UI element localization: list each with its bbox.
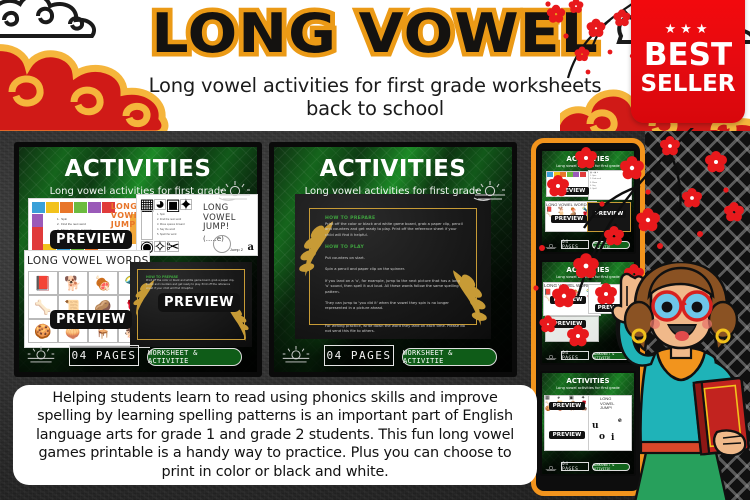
badge-line-2: SELLER bbox=[640, 72, 735, 97]
description-text: Helping students learn to read using pho… bbox=[27, 389, 523, 481]
sunrise-icon-card-2-bottom bbox=[281, 343, 311, 365]
badge-stars: ★★★ bbox=[665, 22, 712, 35]
preview-badge-2: PREVIEW bbox=[50, 310, 132, 329]
mini-sunrise-icon-3 bbox=[545, 463, 557, 472]
instructions-heading-prepare: HOW TO PREPARE bbox=[325, 216, 465, 221]
preview-badge-1: PREVIEW bbox=[50, 230, 132, 249]
spinner-letter: a bbox=[248, 242, 254, 253]
type-pill-card-1: WORKSHEET & ACTIVITIE bbox=[147, 348, 242, 366]
pages-pill-card-1: 04 PAGES bbox=[69, 345, 139, 366]
instructions-step-2: Spin a pencil and paper clip on the spin… bbox=[325, 267, 465, 272]
thumbnail-2-jump-title: LONG VOWEL JUMP! bbox=[203, 204, 236, 233]
preview-card-1[interactable]: ACTIVITIES Long vowel activities for fir… bbox=[14, 142, 262, 377]
description-box: Helping students learn to read using pho… bbox=[13, 385, 537, 485]
cherry-blossom-branch-header bbox=[492, 0, 652, 90]
mini-preview-badge-8: PREVIEW bbox=[549, 431, 585, 439]
spinner-label: Jump 2 bbox=[230, 248, 243, 252]
instructions-slide-large[interactable]: HOW TO PREPARE Print off the color or bl… bbox=[295, 194, 491, 339]
cartoon-teacher-character bbox=[595, 262, 750, 500]
badge-line-1: BEST bbox=[644, 40, 732, 72]
instructions-step-3: If you land on a 'u', for example, jump … bbox=[325, 279, 465, 295]
sunrise-icon-card-2-top bbox=[473, 178, 507, 202]
instructions-step-5: For writing practice, write down the wor… bbox=[325, 324, 465, 335]
best-seller-badge: ★★★ BEST SELLER bbox=[631, 0, 745, 123]
instructions-step-4: They can jump to 'you did it' when the v… bbox=[325, 301, 465, 312]
preview-badge-3: PREVIEW bbox=[158, 293, 240, 312]
type-pill-card-2: WORKSHEET & ACTIVITIE bbox=[402, 348, 497, 366]
poster-canvas: LONG VOWEL Long vowel activities for fir… bbox=[0, 0, 750, 500]
pages-pill-card-2: 04 PAGES bbox=[324, 345, 394, 366]
instructions-heading-play: HOW TO PLAY bbox=[325, 245, 465, 250]
sunrise-icon-card-1-top bbox=[218, 178, 252, 202]
mini-pages-pill-3: 04 PAGES bbox=[561, 462, 589, 471]
instructions-step-1: Put counters on start. bbox=[325, 256, 465, 261]
instructions-body-prepare: Print off the color or black and white g… bbox=[325, 222, 465, 238]
sunrise-icon-card-1-bottom bbox=[26, 343, 56, 365]
slide-body-1: Print off the color or black and white g… bbox=[146, 279, 238, 291]
thumbnail-bw-gameboard[interactable]: LONG VOWEL JUMP! (.....e) ▦ ◕ ▣ ✦ ◉ ✧ ✂ … bbox=[136, 194, 258, 256]
mini-preview-badge-7: PREVIEW bbox=[549, 402, 585, 410]
preview-card-2[interactable]: ACTIVITIES Long vowel activities for fir… bbox=[269, 142, 517, 377]
